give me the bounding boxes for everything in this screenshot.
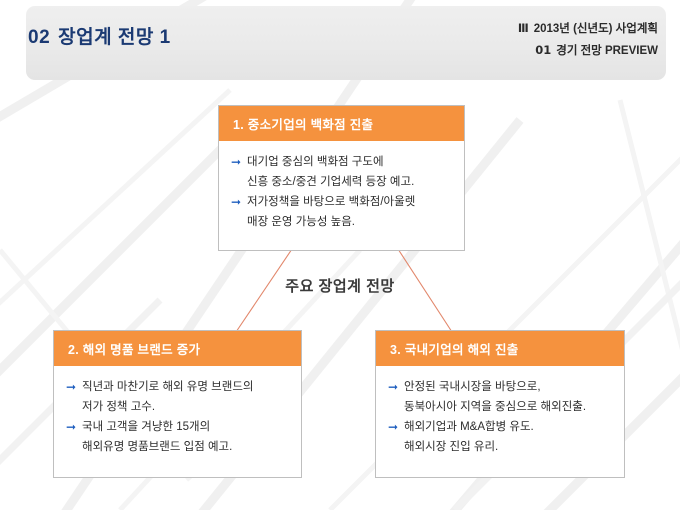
header-subtitle-line2-text: 경기 전망 PREVIEW <box>556 45 658 57</box>
header-subtitle-line1: Ⅲ2013년 (신년도) 사업계획 <box>518 18 658 40</box>
list-item-line: 해외유명 명품브랜드 입점 예고. <box>82 438 291 458</box>
page-title-number: 02 <box>28 27 50 48</box>
list-item-line: 저가정책을 바탕으로 백화점/아울렛 <box>247 193 454 213</box>
arrow-right-icon: ➞ <box>66 418 82 437</box>
list-item-text: 국내 고객을 겨냥한 15개의 해외유명 명품브랜드 입점 예고. <box>82 418 291 457</box>
list-item-line: 신흥 중소/중견 기업세력 등장 예고. <box>247 173 454 193</box>
list-item-line: 저가 정책 고수. <box>82 398 291 418</box>
list-item: ➞ 국내 고객을 겨냥한 15개의 해외유명 명품브랜드 입점 예고. <box>66 418 291 457</box>
list-item-line: 동북아시아 지역을 중심으로 해외진출. <box>404 398 614 418</box>
list-item-line: 직년과 마찬기로 해외 유명 브랜드의 <box>82 378 291 398</box>
page-title: 02장업계 전망 1 <box>28 22 171 49</box>
arrow-right-icon: ➞ <box>66 378 82 397</box>
arrow-right-icon: ➞ <box>388 418 404 437</box>
list-item-line: 해외기업과 M&A합병 유도. <box>404 418 614 438</box>
card-heading: 2. 해외 명품 브랜드 증가 <box>54 331 301 366</box>
header-subtitle-group: Ⅲ2013년 (신년도) 사업계획 01경기 전망 PREVIEW <box>518 18 658 62</box>
list-item-text: 안정된 국내시장을 바탕으로, 동북아시아 지역을 중심으로 해외진출. <box>404 378 614 417</box>
arrow-right-icon: ➞ <box>231 193 247 212</box>
list-item: ➞ 대기업 중심의 백화점 구도에 신흥 중소/중견 기업세력 등장 예고. <box>231 153 454 192</box>
header-subtitle-line2: 01경기 전망 PREVIEW <box>518 40 658 62</box>
card-sme-department-store: 1. 중소기업의 백화점 진출 ➞ 대기업 중심의 백화점 구도에 신흥 중소/… <box>218 105 465 251</box>
section-roman-numeral: Ⅲ <box>518 21 529 35</box>
list-item: ➞ 안정된 국내시장을 바탕으로, 동북아시아 지역을 중심으로 해외진출. <box>388 378 614 417</box>
card-body: ➞ 안정된 국내시장을 바탕으로, 동북아시아 지역을 중심으로 해외진출. ➞… <box>376 366 624 478</box>
page-title-text: 장업계 전망 1 <box>58 27 171 48</box>
header-subtitle-line1-text: 2013년 (신년도) 사업계획 <box>534 23 658 35</box>
card-body: ➞ 대기업 중심의 백화점 구도에 신흥 중소/중견 기업세력 등장 예고. ➞… <box>219 141 464 251</box>
list-item-line: 대기업 중심의 백화점 구도에 <box>247 153 454 173</box>
list-item-text: 해외기업과 M&A합병 유도. 해외시장 진입 유리. <box>404 418 614 457</box>
card-luxury-brand-increase: 2. 해외 명품 브랜드 증가 ➞ 직년과 마찬기로 해외 유명 브랜드의 저가… <box>53 330 302 478</box>
card-heading: 3. 국내기업의 해외 진출 <box>376 331 624 366</box>
diagram-center-label: 주요 장업계 전망 <box>0 275 680 296</box>
arrow-right-icon: ➞ <box>231 153 247 172</box>
card-body: ➞ 직년과 마찬기로 해외 유명 브랜드의 저가 정책 고수. ➞ 국내 고객을… <box>54 366 301 478</box>
list-item-line: 안정된 국내시장을 바탕으로, <box>404 378 614 398</box>
list-item: ➞ 저가정책을 바탕으로 백화점/아울렛 매장 운영 가능성 높음. <box>231 193 454 232</box>
list-item: ➞ 해외기업과 M&A합병 유도. 해외시장 진입 유리. <box>388 418 614 457</box>
subsection-number: 01 <box>535 43 551 57</box>
list-item-line: 국내 고객을 겨냥한 15개의 <box>82 418 291 438</box>
arrow-right-icon: ➞ <box>388 378 404 397</box>
list-item-text: 저가정책을 바탕으로 백화점/아울렛 매장 운영 가능성 높음. <box>247 193 454 232</box>
card-heading: 1. 중소기업의 백화점 진출 <box>219 106 464 141</box>
list-item-text: 대기업 중심의 백화점 구도에 신흥 중소/중견 기업세력 등장 예고. <box>247 153 454 192</box>
slide-canvas: 02장업계 전망 1 Ⅲ2013년 (신년도) 사업계획 01경기 전망 PRE… <box>0 0 680 510</box>
list-item: ➞ 직년과 마찬기로 해외 유명 브랜드의 저가 정책 고수. <box>66 378 291 417</box>
list-item-line: 해외시장 진입 유리. <box>404 438 614 458</box>
card-domestic-overseas-expansion: 3. 국내기업의 해외 진출 ➞ 안정된 국내시장을 바탕으로, 동북아시아 지… <box>375 330 625 478</box>
list-item-line: 매장 운영 가능성 높음. <box>247 213 454 233</box>
list-item-text: 직년과 마찬기로 해외 유명 브랜드의 저가 정책 고수. <box>82 378 291 417</box>
